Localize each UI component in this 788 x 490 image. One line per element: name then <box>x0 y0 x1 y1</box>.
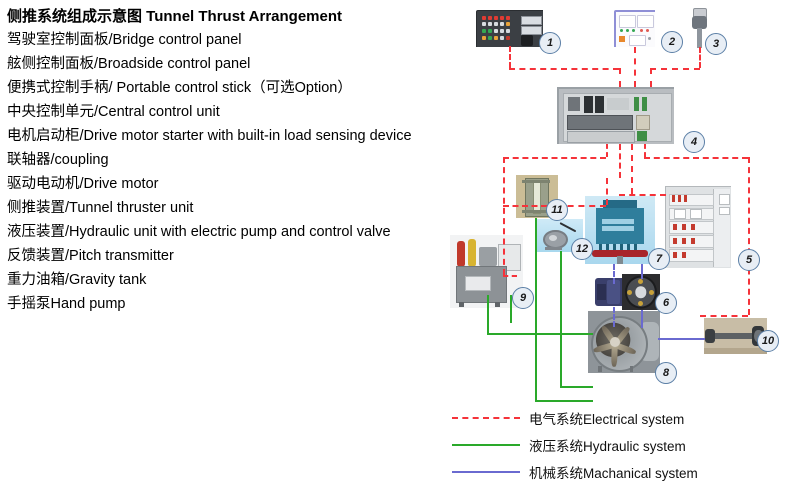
shaft-thruster-to-pitch <box>658 338 705 340</box>
tunnel-thruster-unit-art <box>588 311 660 373</box>
shaft-motor-to-coupling <box>641 264 643 279</box>
wire-electrical-ccu-out4 <box>644 144 646 157</box>
wire-electrical-left-down <box>503 157 505 275</box>
badge-9: 9 <box>512 287 534 309</box>
bridge-control-panel[interactable] <box>476 10 543 47</box>
motor-starter-cabinet-art <box>665 186 731 268</box>
pipe-hydraulic-gravity-to-thruster <box>535 400 593 402</box>
wire-electrical-right-down <box>748 157 750 315</box>
wire-electrical-panel2-drop <box>634 47 636 87</box>
key-row-mechanical: 机械系统Machanical system <box>452 458 782 485</box>
motor-starter-cabinet[interactable] <box>665 186 731 268</box>
wire-electrical-ccu-out2 <box>619 144 621 178</box>
wire-electrical-to-left <box>503 157 606 159</box>
pipe-hydraulic-unit-down1 <box>487 295 489 335</box>
wire-electrical-to-gravity <box>503 205 547 207</box>
shaft-coupling-to-thruster <box>641 310 643 328</box>
badge-2: 2 <box>661 31 683 53</box>
shaft-coupling-to-thruster-left <box>613 307 615 327</box>
central-control-unit-art <box>557 87 674 144</box>
electrical-line-swatch <box>452 417 520 419</box>
broadside-control-panel-art <box>614 10 655 47</box>
pipe-hydraulic-pump-to-thruster <box>560 386 593 388</box>
wire-electrical-to-right <box>644 157 748 159</box>
badge-5: 5 <box>738 249 760 271</box>
wire-electrical-panel1-drop <box>509 46 511 68</box>
key-row-hydraulic: 液压系统Hydraulic system <box>452 431 782 458</box>
wire-electrical-bus-right <box>650 68 700 70</box>
wire-electrical-hyd-feed <box>503 275 517 277</box>
system-key: 电气系统Electrical system 液压系统Hydraulic syst… <box>452 404 782 485</box>
key-row-electrical: 电气系统Electrical system <box>452 404 782 431</box>
badge-11: 11 <box>546 199 568 221</box>
badge-8: 8 <box>655 362 677 384</box>
bridge-control-panel-art <box>476 10 543 47</box>
broadside-control-panel[interactable] <box>614 10 655 47</box>
wire-electrical-bus-right-drop <box>650 68 652 87</box>
wire-electrical-bus-left <box>509 68 619 70</box>
system-diagram: 1 2 <box>0 0 788 400</box>
badge-4: 4 <box>683 131 705 153</box>
badge-6: 6 <box>655 292 677 314</box>
key-label-hydraulic: 液压系统Hydraulic system <box>529 435 686 455</box>
badge-10: 10 <box>757 330 779 352</box>
wire-electrical-bus-left-drop <box>619 68 621 87</box>
wire-electrical-mid-drop <box>606 178 608 205</box>
badge-7: 7 <box>648 248 670 270</box>
hydraulic-line-swatch <box>452 444 520 446</box>
tunnel-thruster-unit[interactable] <box>588 311 660 373</box>
badge-1: 1 <box>539 32 561 54</box>
wire-electrical-to-pitch <box>700 315 748 317</box>
badge-12: 12 <box>571 238 593 260</box>
shaft-motor-to-coupling-left <box>613 264 615 284</box>
diagram-page: 侧推系统组成示意图 Tunnel Thrust Arrangement 驾驶室控… <box>0 0 788 490</box>
wire-electrical-ccu-out3 <box>631 144 633 194</box>
badge-3: 3 <box>705 33 727 55</box>
pipe-hydraulic-gravity-down <box>535 218 537 402</box>
key-label-mechanical: 机械系统Machanical system <box>529 462 698 482</box>
wire-electrical-panel3-drop <box>699 47 701 68</box>
key-label-electrical: 电气系统Electrical system <box>529 408 684 428</box>
pipe-hydraulic-pump-down <box>560 251 562 388</box>
mechanical-line-swatch <box>452 471 520 473</box>
wire-electrical-ccu-out1 <box>606 144 608 157</box>
wire-electrical-to-cabinet <box>619 194 666 196</box>
pipe-hydraulic-unit-to-thruster <box>487 333 593 335</box>
central-control-unit[interactable] <box>557 87 674 144</box>
